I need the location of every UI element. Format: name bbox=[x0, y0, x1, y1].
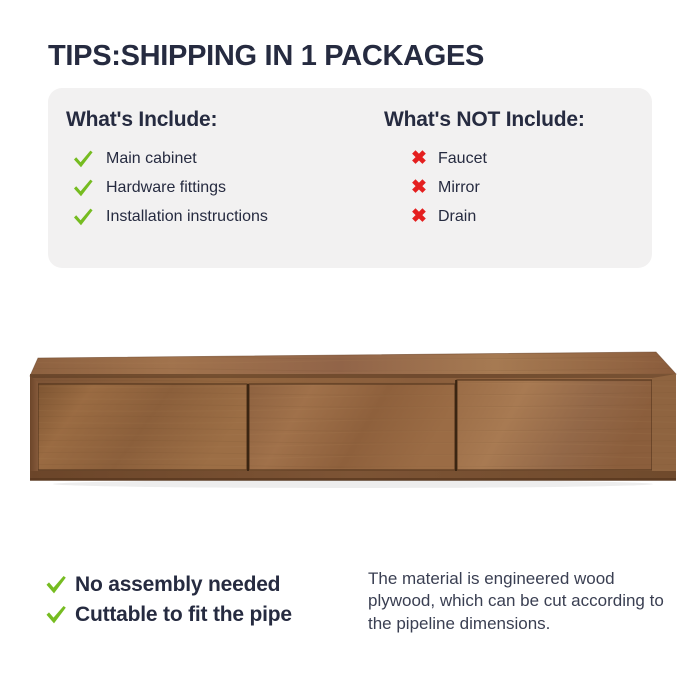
check-icon bbox=[44, 575, 68, 595]
include-list: Main cabinet Hardware fittings bbox=[66, 144, 386, 231]
not-include-heading: What's NOT Include: bbox=[384, 108, 644, 132]
cross-icon: ✖ bbox=[406, 207, 432, 226]
check-icon bbox=[70, 149, 96, 169]
list-item: Main cabinet bbox=[66, 144, 386, 173]
include-column: What's Include: Main cabinet bbox=[66, 108, 386, 231]
highlight-label: Cuttable to fit the pipe bbox=[75, 603, 292, 627]
product-image bbox=[0, 330, 700, 520]
check-icon bbox=[44, 605, 68, 625]
list-item: Hardware fittings bbox=[66, 173, 386, 202]
list-item: ✖ Drain bbox=[384, 202, 644, 231]
cabinet-left-side bbox=[30, 376, 38, 478]
list-item: ✖ Faucet bbox=[384, 144, 644, 173]
package-contents-card: What's Include: Main cabinet bbox=[48, 88, 652, 268]
cross-icon: ✖ bbox=[406, 149, 432, 168]
check-icon bbox=[70, 178, 96, 198]
cross-icon: ✖ bbox=[406, 178, 432, 197]
material-description: The material is engineered wood plywood,… bbox=[368, 568, 664, 635]
not-include-column: What's NOT Include: ✖ Faucet ✖ Mirror bbox=[384, 108, 644, 231]
highlight-label: No assembly needed bbox=[75, 573, 280, 597]
list-item-label: Installation instructions bbox=[106, 208, 268, 226]
list-item-label: Drain bbox=[438, 208, 476, 226]
list-item: No assembly needed bbox=[44, 570, 354, 600]
list-item: ✖ Mirror bbox=[384, 173, 644, 202]
highlights-list: No assembly needed Cuttable to fit the p… bbox=[44, 570, 354, 630]
list-item: Installation instructions bbox=[66, 202, 386, 231]
include-heading: What's Include: bbox=[66, 108, 386, 132]
list-item-label: Mirror bbox=[438, 179, 480, 197]
page-title: TIPS:SHIPPING IN 1 PACKAGES bbox=[48, 40, 484, 73]
tips-infographic-page: TIPS:SHIPPING IN 1 PACKAGES What's Inclu… bbox=[0, 0, 700, 700]
list-item-label: Hardware fittings bbox=[106, 179, 226, 197]
list-item: Cuttable to fit the pipe bbox=[44, 600, 354, 630]
list-item-label: Faucet bbox=[438, 150, 487, 168]
list-item-label: Main cabinet bbox=[106, 150, 197, 168]
check-icon bbox=[70, 207, 96, 227]
bottom-section: No assembly needed Cuttable to fit the p… bbox=[0, 560, 700, 670]
not-include-list: ✖ Faucet ✖ Mirror ✖ Drain bbox=[384, 144, 644, 231]
